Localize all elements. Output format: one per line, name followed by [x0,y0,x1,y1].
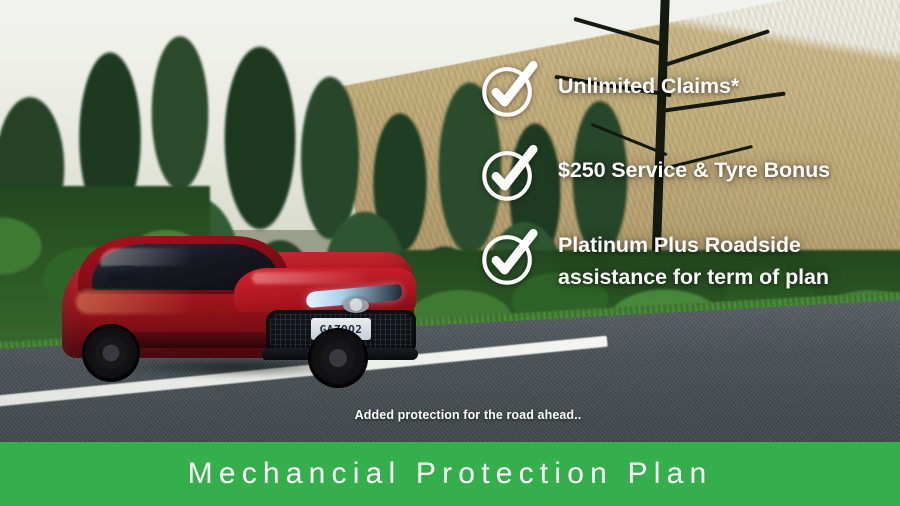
rear-wheel [82,324,140,382]
footer-title: Mechancial Protection Plan [188,459,713,489]
car-vehicle: GAZOO2 [56,224,422,384]
door-highlight [76,290,236,314]
footer-bar: Mechancial Protection Plan [0,442,900,506]
hood-highlight [252,272,372,284]
toyota-emblem-icon [343,298,369,313]
side-mirror [108,265,139,281]
check-circle-icon [478,142,540,204]
caption-text: Added protection for the road ahead.. [355,408,582,422]
front-wheel [308,328,368,388]
promo-banner: GAZOO2 Unlimited Claims* [0,0,900,506]
feature-item-platinum-plus-roadside: Platinum Plus Roadside assistance for te… [478,230,892,294]
check-circle-icon [478,226,540,288]
windshield-reflection [100,248,192,266]
feature-list: Unlimited Claims* $250 Service & Tyre Bo… [478,62,892,294]
feature-label: Unlimited Claims* [558,62,739,103]
check-circle-icon [478,58,540,120]
feature-item-unlimited-claims: Unlimited Claims* [478,62,892,120]
caption: Added protection for the road ahead.. [0,408,900,422]
feature-label: $250 Service & Tyre Bonus [558,146,830,187]
feature-label: Platinum Plus Roadside assistance for te… [558,230,892,294]
feature-item-service-tyre-bonus: $250 Service & Tyre Bonus [478,146,892,204]
